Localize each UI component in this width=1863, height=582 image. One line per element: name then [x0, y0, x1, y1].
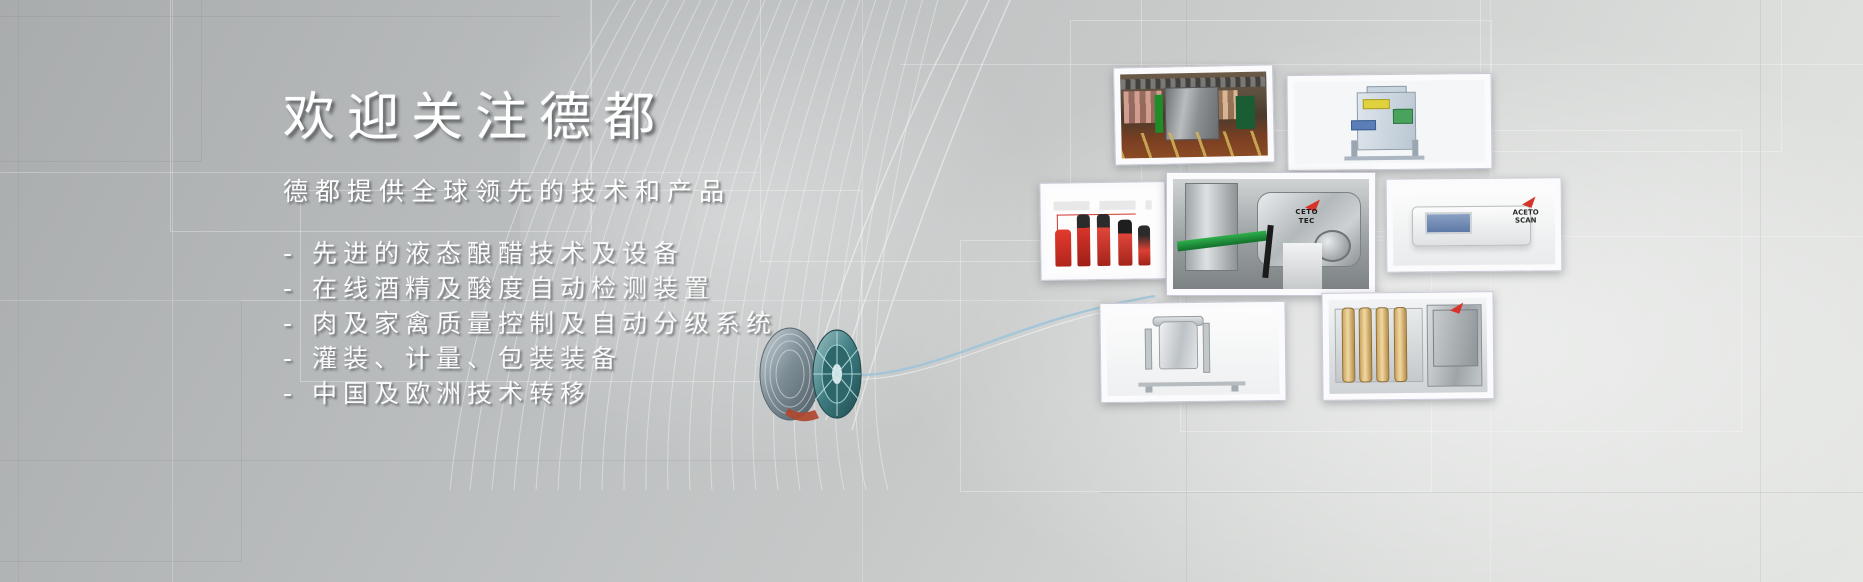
- photo-benchtop-analyzer[interactable]: ACETO SCAN: [1386, 177, 1563, 273]
- photo-image: [1106, 308, 1279, 396]
- list-item: - 先进的液态酿醋技术及设备: [283, 236, 903, 271]
- photo-filtration-skid[interactable]: [1099, 301, 1286, 403]
- photo-poultry-processing-line[interactable]: [1113, 64, 1275, 165]
- photo-image: [1329, 298, 1488, 394]
- coil-wheel-object: [745, 322, 875, 432]
- photo-image: [1046, 188, 1159, 274]
- red-arrow-icon: [1522, 193, 1535, 208]
- photo-process-flow-diagram[interactable]: [1039, 181, 1166, 281]
- list-item: - 在线酒精及酸度自动检测装置: [283, 271, 903, 306]
- subtitle: 德都提供全球领先的技术和产品: [283, 172, 903, 208]
- background-grid: [0, 0, 1863, 582]
- photo-fermentation-tank[interactable]: CETO TEC: [1166, 172, 1376, 296]
- photo-image: [1294, 80, 1486, 164]
- photo-image: ACETO SCAN: [1393, 184, 1556, 265]
- photo-cad-machine-rendering[interactable]: [1287, 73, 1493, 171]
- brand-label: CETO TEC: [1295, 208, 1318, 226]
- photo-membrane-rack-cabinet[interactable]: [1321, 291, 1494, 401]
- photo-image: [1120, 71, 1268, 158]
- photo-image: CETO TEC: [1173, 179, 1369, 289]
- brand-label: ACETO SCAN: [1513, 208, 1539, 224]
- page-title: 欢迎关注德都: [283, 92, 903, 144]
- promo-banner: 欢迎关注德都 德都提供全球领先的技术和产品 - 先进的液态酿醋技术及设备 - 在…: [0, 0, 1863, 582]
